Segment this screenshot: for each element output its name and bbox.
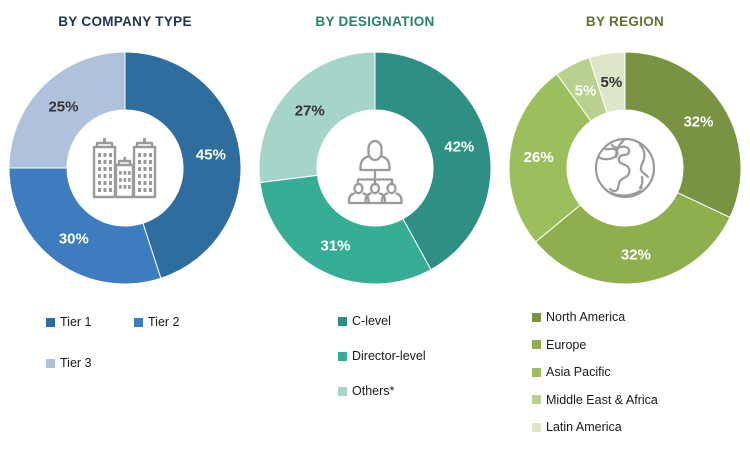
slice-value-label: 32% <box>621 246 651 263</box>
chart-panel-region: BY REGION 32%32%26%5%5% <box>500 0 750 449</box>
legend-company-type: Tier 1Tier 2Tier 3 <box>0 315 250 397</box>
legend-item[interactable]: North America <box>532 310 750 324</box>
legend-item-label: Europe <box>546 338 586 352</box>
slice-value-label: 27% <box>295 102 325 119</box>
donut-chart-region: 32%32%26%5%5% <box>509 52 741 284</box>
legend-designation: C-levelDirector-levelOthers* <box>250 314 500 419</box>
legend-swatch-icon <box>532 340 541 349</box>
legend-item-label: Others* <box>352 384 394 398</box>
org-chart-people-icon <box>332 125 418 211</box>
legend-item-label: C-level <box>352 314 391 328</box>
legend-region: North AmericaEuropeAsia PacificMiddle Ea… <box>500 310 750 448</box>
legend-swatch-icon <box>532 313 541 322</box>
legend-swatch-icon <box>338 317 347 326</box>
legend-item-label: Tier 1 <box>60 315 92 329</box>
legend-item-label: Latin America <box>546 420 622 434</box>
legend-item-label: Asia Pacific <box>546 365 611 379</box>
legend-swatch-icon <box>134 318 143 327</box>
globe-icon <box>582 125 668 211</box>
legend-swatch-icon <box>46 318 55 327</box>
chart-panel-company-type: BY COMPANY TYPE 45%30%25% <box>0 0 250 449</box>
slice-value-label: 31% <box>320 238 350 255</box>
survey-breakdown-infographic: BY COMPANY TYPE 45%30%25% <box>0 0 750 449</box>
donut-chart-company-type: 45%30%25% <box>9 52 241 284</box>
legend-swatch-icon <box>338 352 347 361</box>
legend-item-label: North America <box>546 310 625 324</box>
slice-value-label: 25% <box>48 98 78 115</box>
slice-value-label: 32% <box>683 113 713 130</box>
legend-swatch-icon <box>532 368 541 377</box>
legend-swatch-icon <box>532 395 541 404</box>
legend-item[interactable]: Tier 1 <box>46 315 134 329</box>
legend-item-label: Tier 2 <box>148 315 180 329</box>
legend-item[interactable]: Tier 2 <box>134 315 222 329</box>
legend-item[interactable]: Latin America <box>532 420 750 434</box>
slice-value-label: 5% <box>575 82 597 99</box>
slice-value-label: 5% <box>601 74 623 91</box>
office-buildings-icon <box>82 125 168 211</box>
legend-item[interactable]: Asia Pacific <box>532 365 750 379</box>
legend-item[interactable]: Director-level <box>338 349 500 363</box>
legend-item-label: Middle East & Africa <box>546 393 658 407</box>
legend-swatch-icon <box>338 387 347 396</box>
slice-value-label: 42% <box>444 138 474 155</box>
legend-item[interactable]: Others* <box>338 384 500 398</box>
page-title-designation: BY DESIGNATION <box>250 14 500 29</box>
chart-panel-designation: BY DESIGNATION 42%31%27% <box>250 0 500 449</box>
page-title-company-type: BY COMPANY TYPE <box>0 14 250 29</box>
legend-item[interactable]: Middle East & Africa <box>532 393 750 407</box>
legend-item[interactable]: C-level <box>338 314 500 328</box>
slice-value-label: 26% <box>524 149 554 166</box>
legend-item[interactable]: Europe <box>532 338 750 352</box>
legend-item-label: Tier 3 <box>60 356 92 370</box>
legend-swatch-icon <box>532 423 541 432</box>
donut-chart-designation: 42%31%27% <box>259 52 491 284</box>
legend-item-label: Director-level <box>352 349 426 363</box>
legend-swatch-icon <box>46 359 55 368</box>
legend-item[interactable]: Tier 3 <box>46 356 134 370</box>
slice-value-label: 30% <box>59 230 89 247</box>
slice-value-label: 45% <box>196 146 226 163</box>
page-title-region: BY REGION <box>500 14 750 29</box>
